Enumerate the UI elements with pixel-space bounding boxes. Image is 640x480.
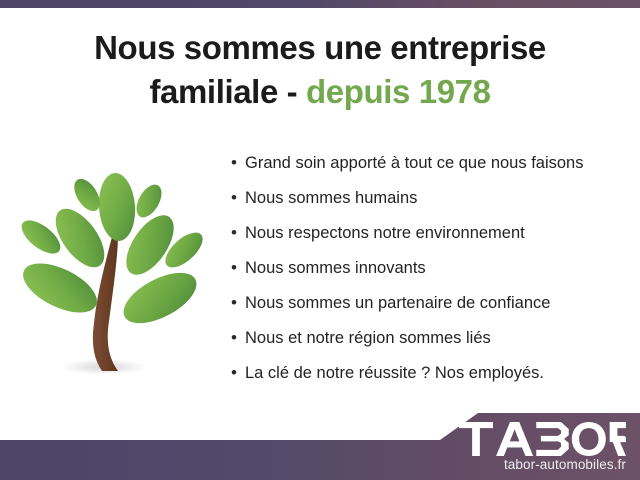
title-line-2-main: familiale -	[149, 73, 306, 110]
top-accent-bar	[0, 0, 640, 8]
title-accent-year: depuis 1978	[306, 73, 491, 110]
list-item-label: La clé de notre réussite ? Nos employés.	[245, 362, 544, 384]
list-item-label: Grand soin apporté à tout ce que nous fa…	[245, 152, 583, 174]
leaf-top-right-small	[131, 180, 166, 221]
list-item: • Nous respectons notre environnement	[231, 222, 631, 257]
list-item: • Nous sommes innovants	[231, 257, 631, 292]
list-item: • Nous et notre région sommes liés	[231, 327, 631, 362]
leaf-top-center	[97, 172, 138, 242]
bullet-marker-icon: •	[231, 362, 245, 384]
list-item-label: Nous sommes humains	[245, 187, 417, 209]
title-line-1: Nous sommes une entreprise	[0, 26, 640, 70]
brand-logo[interactable]: tabor-automobiles.fr	[459, 422, 626, 472]
tabor-wordmark-icon	[459, 422, 626, 456]
list-item: • Nous sommes humains	[231, 187, 631, 222]
brand-tagline: tabor-automobiles.fr	[459, 457, 626, 472]
list-item-label: Nous sommes un partenaire de confiance	[245, 292, 550, 314]
tree-illustration	[12, 155, 212, 395]
leaf-lower-right	[116, 262, 204, 333]
list-item: • Grand soin apporté à tout ce que nous …	[231, 152, 631, 187]
list-item: • La clé de notre réussite ? Nos employé…	[231, 362, 631, 397]
list-item: • Nous sommes un partenaire de confiance	[231, 292, 631, 327]
bullet-marker-icon: •	[231, 257, 245, 279]
bullet-marker-icon: •	[231, 327, 245, 349]
list-item-label: Nous et notre région sommes liés	[245, 327, 491, 349]
bullet-marker-icon: •	[231, 292, 245, 314]
page-title: Nous sommes une entreprise familiale - d…	[0, 26, 640, 113]
title-line-2: familiale - depuis 1978	[0, 70, 640, 114]
bullet-marker-icon: •	[231, 187, 245, 209]
bullet-marker-icon: •	[231, 222, 245, 244]
benefits-list: • Grand soin apporté à tout ce que nous …	[231, 152, 631, 397]
slide-canvas: Nous sommes une entreprise familiale - d…	[0, 0, 640, 480]
bullet-marker-icon: •	[231, 152, 245, 174]
list-item-label: Nous respectons notre environnement	[245, 222, 525, 244]
list-item-label: Nous sommes innovants	[245, 257, 426, 279]
